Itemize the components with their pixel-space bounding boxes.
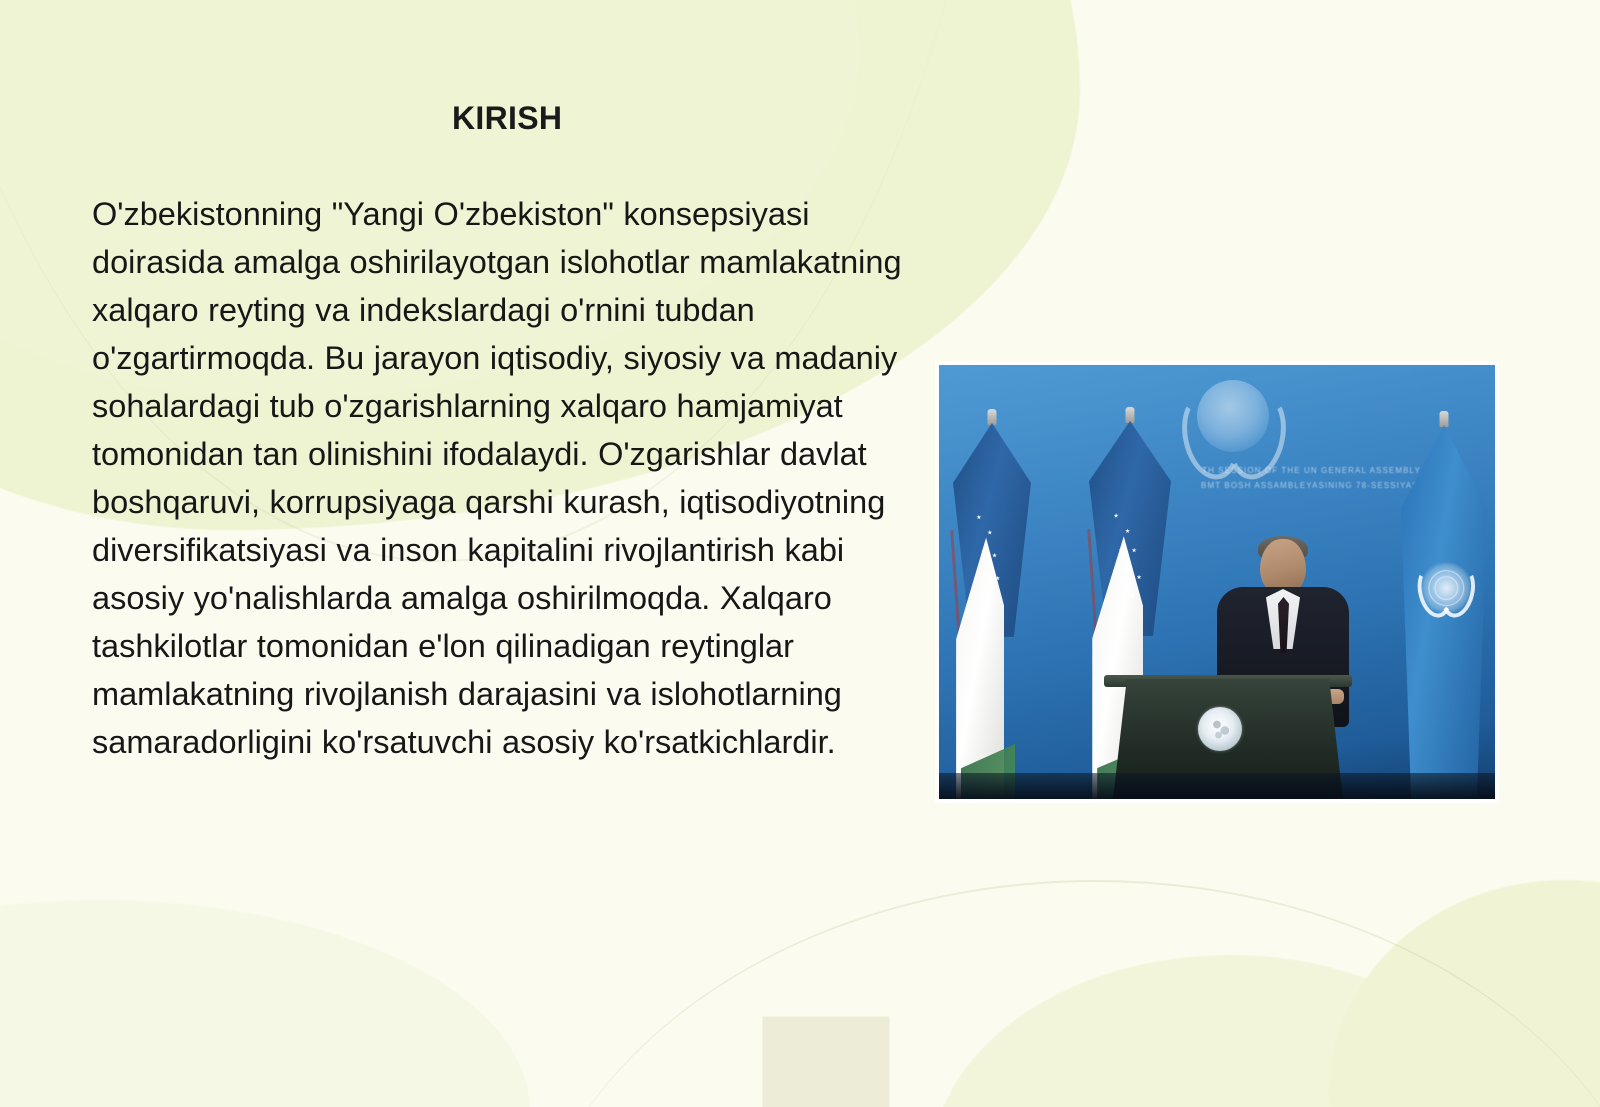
- stage-floor: [939, 773, 1495, 799]
- body-paragraph: O'zbekistonning "Yangi O'zbekiston" kons…: [92, 190, 937, 766]
- photo-frame: TH SESSION OF THE UN GENERAL ASSEMBLY BM…: [936, 362, 1498, 802]
- united-nations-flag: [1401, 411, 1487, 799]
- un-assembly-photo: TH SESSION OF THE UN GENERAL ASSEMBLY BM…: [939, 365, 1495, 799]
- flag-finial-icon: [1440, 411, 1449, 427]
- slide-content: KIRISH O'zbekistonning "Yangi O'zbekisto…: [0, 0, 1600, 1107]
- presentation-slide: KIRISH O'zbekistonning "Yangi O'zbekisto…: [0, 0, 1600, 1107]
- uzbekistan-flag-left: [953, 409, 1031, 799]
- un-emblem-flag-icon: [1417, 562, 1475, 620]
- page-title: KIRISH: [452, 100, 562, 137]
- un-emblem-podium-icon: [1198, 707, 1242, 751]
